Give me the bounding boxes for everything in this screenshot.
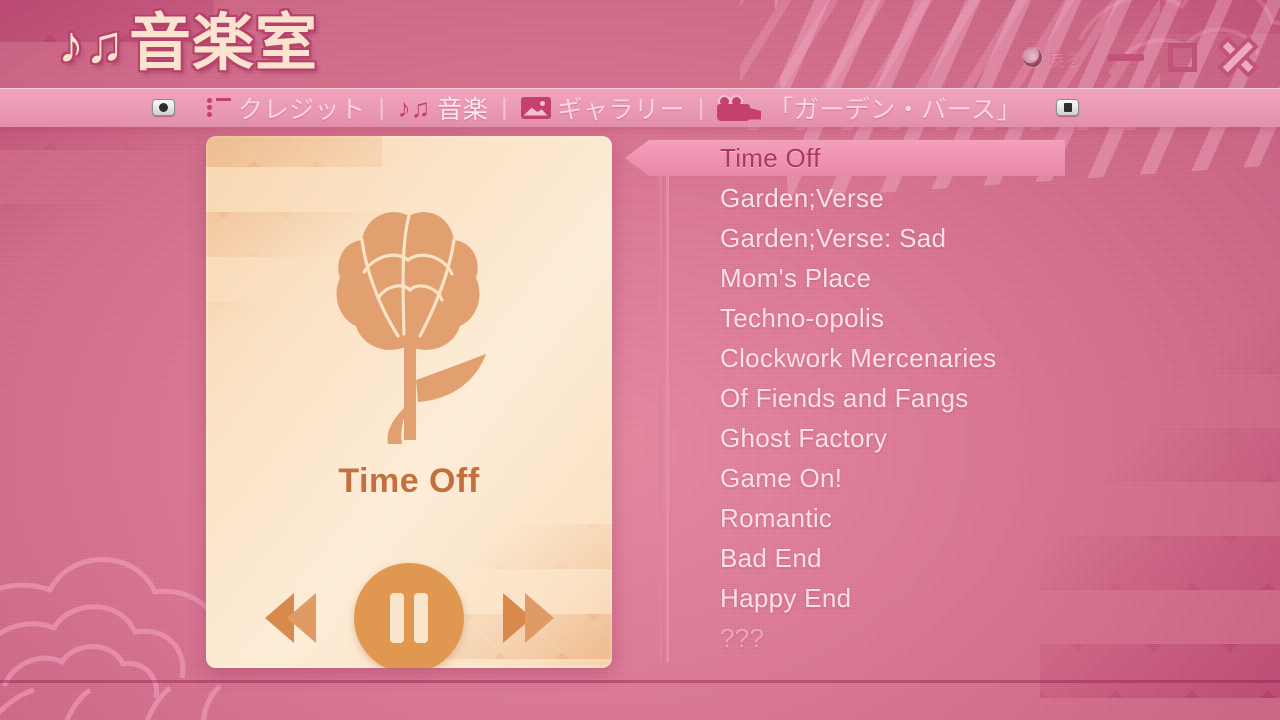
play-pause-button[interactable] <box>354 563 464 668</box>
track-list-item[interactable]: Of Fiends and Fangs <box>625 378 1185 418</box>
track-list: Time Off Garden;Verse Garden;Verse: Sad … <box>625 138 1185 658</box>
track-name: Of Fiends and Fangs <box>720 383 969 414</box>
track-list-item[interactable]: Bad End <box>625 538 1185 578</box>
track-list-item[interactable]: Ghost Factory <box>625 418 1185 458</box>
tab-gallery-label: ギャラリー <box>558 90 686 126</box>
tab-garden-verse[interactable]: 「ガーデン・バース」 <box>713 90 1026 126</box>
track-list-item[interactable]: Techno-opolis <box>625 298 1185 338</box>
track-name: ??? <box>720 623 764 654</box>
tab-garden-verse-label: 「ガーデン・バース」 <box>768 90 1022 126</box>
track-list-item[interactable]: Time Off <box>625 138 1185 178</box>
track-list-item[interactable]: Happy End <box>625 578 1185 618</box>
gamepad-b-button-icon <box>1023 48 1042 67</box>
tab-credits-label: クレジット <box>238 90 366 126</box>
navigation-bar: クレジット | ♪♫ 音楽 | ギャラリー | 「ガーデン・バース」 <box>0 88 1280 127</box>
page-title: ♪♫音楽室 <box>58 4 318 85</box>
nav-separator: | <box>501 94 507 122</box>
horizontal-divider-line <box>0 680 1280 683</box>
track-name: Garden;Verse: Sad <box>720 223 946 254</box>
maximize-icon <box>1168 43 1197 72</box>
music-room-screen: ♪♫音楽室 戻る クレジット | ♪♫ 音楽 <box>0 0 1280 720</box>
track-name: Bad End <box>720 543 822 574</box>
minimize-button[interactable] <box>1098 28 1154 86</box>
pause-icon <box>414 593 428 643</box>
nav-separator: | <box>698 94 704 122</box>
track-name: Clockwork Mercenaries <box>720 343 996 374</box>
track-list-item[interactable]: Game On! <box>625 458 1185 498</box>
track-name: Game On! <box>720 463 842 494</box>
window-controls: 戻る <box>1023 28 1266 86</box>
l-bumper-key-icon <box>152 99 175 116</box>
track-name: Happy End <box>720 583 851 614</box>
tab-gallery[interactable]: ギャラリー <box>517 90 690 126</box>
track-name: Techno-opolis <box>720 303 884 334</box>
music-note-icon: ♪♫ <box>398 95 431 121</box>
title-bar: ♪♫音楽室 戻る <box>0 0 1280 88</box>
player-controls <box>206 558 612 668</box>
fast-forward-icon <box>525 593 554 643</box>
track-list-item[interactable]: Romantic <box>625 498 1185 538</box>
previous-track-button[interactable] <box>254 589 326 647</box>
rewind-icon <box>287 593 316 643</box>
page-title-text: 音楽室 <box>129 9 318 78</box>
selection-highlight <box>625 140 1065 176</box>
next-track-button[interactable] <box>492 589 564 647</box>
close-button[interactable] <box>1210 28 1266 86</box>
tab-music-label: 音楽 <box>437 90 488 126</box>
film-camera-icon <box>717 95 761 121</box>
track-list-item[interactable]: Garden;Verse <box>625 178 1185 218</box>
track-name: Time Off <box>720 143 821 174</box>
track-name: Romantic <box>720 503 832 534</box>
tulip-flower-icon <box>304 194 514 444</box>
tab-credits[interactable]: クレジット <box>203 90 370 126</box>
track-list-item[interactable]: ??? <box>625 618 1185 658</box>
close-icon <box>1215 34 1261 80</box>
tab-music[interactable]: ♪♫ 音楽 <box>394 90 493 126</box>
music-notes-icon: ♪♫ <box>58 16 125 74</box>
nav-separator: | <box>379 94 385 122</box>
track-name: Mom's Place <box>720 263 871 294</box>
r-bumper-key-icon <box>1056 99 1079 116</box>
track-list-item[interactable]: Clockwork Mercenaries <box>625 338 1185 378</box>
track-name: Ghost Factory <box>720 423 887 454</box>
minimize-icon <box>1108 54 1144 61</box>
card-track-title: Time Off <box>206 462 612 501</box>
image-icon <box>521 97 551 119</box>
track-name: Garden;Verse <box>720 183 884 214</box>
maximize-button[interactable] <box>1154 28 1210 86</box>
pause-icon <box>390 593 404 643</box>
track-list-item[interactable]: Mom's Place <box>625 258 1185 298</box>
list-icon <box>207 98 231 117</box>
track-list-item[interactable]: Garden;Verse: Sad <box>625 218 1185 258</box>
now-playing-card: Time Off <box>206 136 612 668</box>
back-hint[interactable]: 戻る <box>1023 45 1082 70</box>
back-hint-label: 戻る <box>1048 45 1082 70</box>
